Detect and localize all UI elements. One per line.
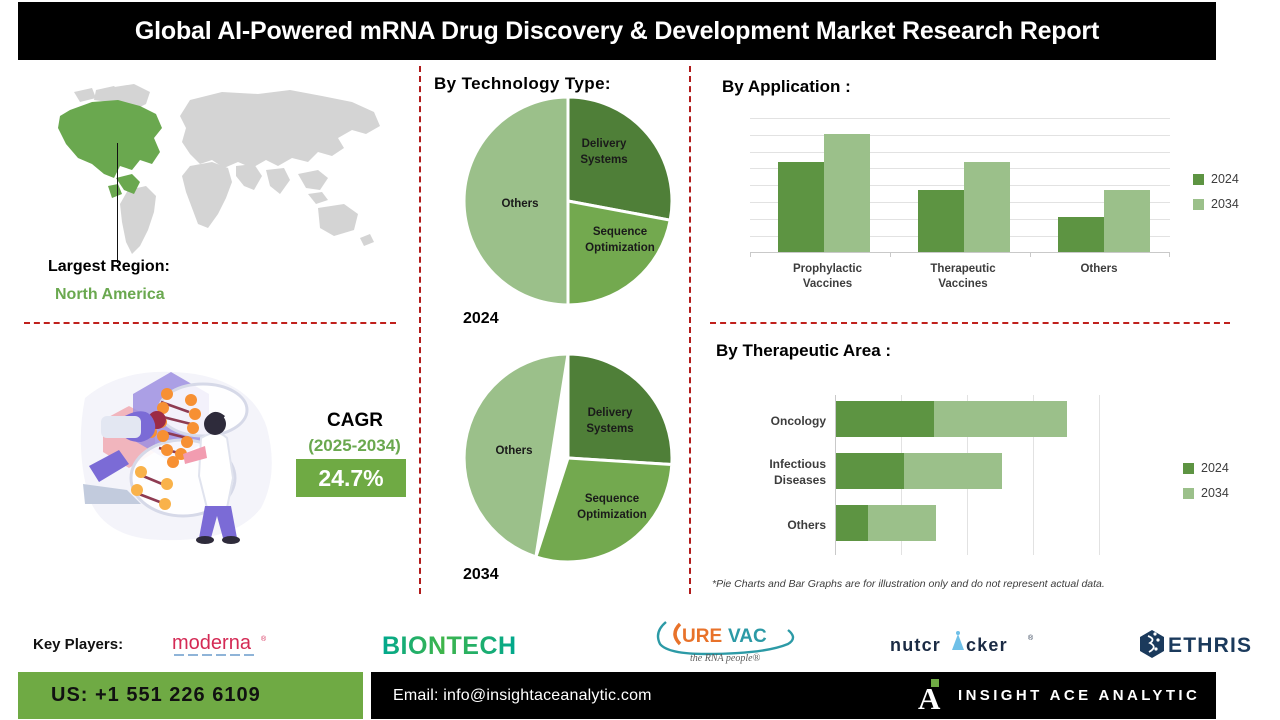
divider-horizontal-right — [710, 322, 1230, 324]
category-line-2: Diseases — [700, 472, 826, 488]
pie-year-2034: 2034 — [463, 566, 499, 584]
legend-swatch-2034 — [1193, 199, 1204, 210]
gridline — [1099, 395, 1100, 555]
divider-horizontal-left — [24, 322, 396, 324]
gridline — [750, 135, 1170, 136]
svg-text:BIONTECH: BIONTECH — [382, 632, 517, 660]
category-line-2: Vaccines — [760, 277, 895, 292]
category-line-1: Others — [1040, 262, 1158, 277]
svg-text:moderna: moderna — [172, 632, 252, 654]
key-players-label: Key Players: — [33, 636, 123, 653]
application-bar-chart — [750, 118, 1170, 253]
application-legend: 2024 2034 — [1193, 172, 1239, 222]
bar-segment-2024 — [836, 505, 868, 541]
category-line-1: Oncology — [700, 413, 826, 429]
svg-text:Delivery: Delivery — [588, 407, 633, 419]
svg-text:Optimization: Optimization — [577, 509, 647, 521]
largest-region-label: Largest Region: — [48, 258, 170, 276]
gridline — [750, 152, 1170, 153]
mrna-lab-illustration — [55, 358, 300, 548]
moderna-logo: moderna ® — [172, 630, 272, 660]
category-line-1: Others — [700, 517, 826, 533]
svg-text:Others: Others — [501, 198, 538, 210]
svg-text:Optimization: Optimization — [585, 242, 655, 254]
bar-2024-therapeutic — [918, 190, 964, 252]
stacked-bar-oncology — [836, 401, 1067, 437]
legend-label-2024: 2024 — [1211, 172, 1239, 186]
bar-segment-2034 — [868, 505, 936, 541]
application-heading: By Application : — [722, 77, 851, 97]
legend-label-2034: 2034 — [1211, 197, 1239, 211]
legend-label-2024: 2024 — [1201, 461, 1229, 475]
nutcracker-logo: nutcr cker ® — [890, 630, 1042, 658]
map-pointer-line — [117, 143, 118, 263]
application-category-label: Therapeutic Vaccines — [898, 262, 1028, 292]
legend-swatch-2034 — [1183, 488, 1194, 499]
therapeutic-category-label: Oncology — [700, 413, 826, 429]
svg-text:Delivery: Delivery — [582, 138, 627, 150]
therapeutic-category-label: Others — [700, 517, 826, 533]
svg-text:nutcr: nutcr — [890, 635, 941, 655]
therapeutic-bar-chart — [835, 395, 1115, 555]
world-map-icon — [22, 82, 390, 262]
legend-item-2034: 2034 — [1193, 197, 1239, 211]
legend-item-2024: 2024 — [1183, 461, 1229, 475]
bar-2034-others — [1104, 190, 1150, 252]
chart-footnote: *Pie Charts and Bar Graphs are for illus… — [712, 578, 1105, 590]
stacked-bar-infectious-diseases — [836, 453, 1002, 489]
email-address: Email: info@insightaceanalytic.com — [371, 687, 652, 705]
svg-text:Sequence: Sequence — [593, 226, 647, 238]
svg-text:A: A — [918, 681, 941, 712]
axis-tick — [890, 252, 891, 257]
svg-text:VAC: VAC — [728, 626, 767, 647]
phone-bar: US: +1 551 226 6109 — [18, 672, 363, 719]
svg-text:ETHRIS: ETHRIS — [1168, 634, 1252, 657]
category-line-1: Prophylactic — [760, 262, 895, 277]
category-line-1: Infectious — [700, 456, 826, 472]
application-category-label: Prophylactic Vaccines — [760, 262, 895, 292]
axis-tick — [1030, 252, 1031, 257]
legend-swatch-2024 — [1193, 174, 1204, 185]
brand-name: INSIGHT ACE ANALYTIC — [958, 687, 1200, 704]
bar-2034-therapeutic — [964, 162, 1010, 252]
bar-segment-2034 — [904, 453, 1002, 489]
divider-vertical-right — [689, 66, 691, 594]
svg-text:the RNA people®: the RNA people® — [690, 653, 761, 664]
biontech-logo: BIONTECH — [382, 630, 542, 660]
cagr-period: (2025-2034) — [292, 436, 417, 456]
svg-text:cker: cker — [966, 635, 1008, 655]
svg-text:Sequence: Sequence — [585, 493, 639, 505]
bar-segment-2024 — [836, 453, 904, 489]
therapeutic-category-label: Infectious Diseases — [700, 456, 826, 488]
therapeutic-heading: By Therapeutic Area : — [716, 341, 891, 361]
axis-tick — [1169, 252, 1170, 257]
pie-chart-2024: Delivery Systems Sequence Optimization O… — [452, 95, 684, 307]
legend-swatch-2024 — [1183, 463, 1194, 474]
svg-text:Systems: Systems — [580, 154, 627, 166]
infographic-page: Global AI-Powered mRNA Drug Discovery & … — [0, 0, 1280, 720]
legend-label-2034: 2034 — [1201, 486, 1229, 500]
category-line-1: Therapeutic — [898, 262, 1028, 277]
gridline — [750, 118, 1170, 119]
stacked-bar-others — [836, 505, 936, 541]
svg-text:Systems: Systems — [586, 423, 633, 435]
largest-region-value: North America — [55, 286, 165, 304]
pie-year-2024: 2024 — [463, 310, 499, 328]
cagr-value-box: 24.7% — [296, 459, 406, 497]
svg-text:Others: Others — [495, 445, 532, 457]
therapeutic-legend: 2024 2034 — [1183, 461, 1229, 511]
phone-number: US: +1 551 226 6109 — [18, 684, 261, 707]
page-title: Global AI-Powered mRNA Drug Discovery & … — [135, 17, 1099, 46]
cagr-value: 24.7% — [318, 465, 383, 492]
pie-chart-2034: Delivery Systems Sequence Optimization O… — [452, 352, 684, 564]
legend-item-2034: 2034 — [1183, 486, 1229, 500]
bar-2024-others — [1058, 217, 1104, 252]
category-line-2: Vaccines — [898, 277, 1028, 292]
header-bar: Global AI-Powered mRNA Drug Discovery & … — [18, 2, 1216, 60]
x-axis — [750, 252, 1170, 253]
curevac-logo: URE VAC the RNA people® — [652, 616, 802, 664]
bar-2034-prophylactic — [824, 134, 870, 252]
svg-text:®: ® — [261, 635, 267, 643]
divider-vertical-left — [419, 66, 421, 594]
bar-segment-2034 — [934, 401, 1067, 437]
svg-text:®: ® — [1028, 634, 1034, 642]
insight-ace-a-mark: A — [918, 679, 944, 712]
axis-tick — [750, 252, 751, 257]
cagr-label: CAGR — [315, 410, 395, 432]
ethris-logo: ETHRIS — [1138, 628, 1278, 660]
bar-2024-prophylactic — [778, 162, 824, 252]
brand-lockup: A INSIGHT ACE ANALYTIC — [918, 679, 1200, 712]
technology-heading: By Technology Type: — [434, 74, 611, 94]
legend-item-2024: 2024 — [1193, 172, 1239, 186]
svg-text:URE: URE — [682, 626, 722, 647]
application-category-label: Others — [1040, 262, 1158, 277]
bar-segment-2024 — [836, 401, 934, 437]
